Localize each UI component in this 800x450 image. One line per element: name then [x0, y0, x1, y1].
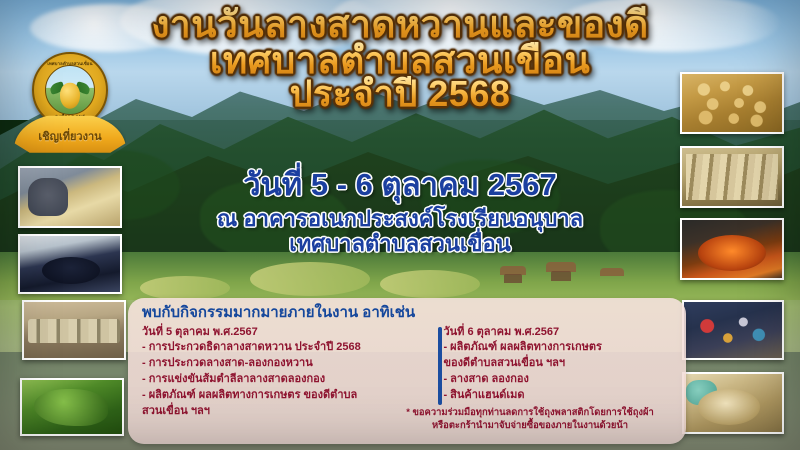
rice-field [140, 276, 230, 300]
event-poster: งานวันลางสาดหวานและของดี เทศบาลตำบลสวนเข… [0, 0, 800, 450]
day1-item: - ผลิตภัณฑ์ ผลผลิตทางการเกษตร ของดีตำบล [142, 388, 417, 404]
village-hut [551, 271, 571, 281]
day2-item: - ผลิตภัณฑ์ ผลผลิตทางการเกษตร [443, 340, 672, 356]
invitation-ribbon-label: เชิญเที่ยวงาน [38, 127, 101, 145]
market-stall-photo [682, 300, 784, 360]
cloud [30, 4, 190, 52]
day1-item: - การประกวดลางสาด-ลองกองหวาน [142, 356, 417, 372]
day1-item: สวนเขื่อน ฯลฯ [142, 404, 417, 420]
activities-panel: พบกับกิจกรรมมากมายภายในงาน อาทิเช่น วันท… [128, 298, 686, 444]
footnote-line-1: * ขอความร่วมมือทุกท่านลดการใช้ถุงพลาสติก… [380, 406, 680, 419]
column-divider [438, 327, 442, 405]
day2-item: - ลางสาด ลองกอง [443, 372, 672, 388]
activities-panel-title: พบกับกิจกรรมมากมายภายในงาน อาทิเช่น [142, 305, 672, 322]
bamboo-cups-photo [680, 146, 784, 208]
seal-inner-emblem [45, 65, 95, 115]
rice-field [380, 270, 480, 298]
day1-item: - การแข่งขันส้มตำลีลาลางสาดลองกอง [142, 372, 417, 388]
day1-heading: วันที่ 5 ตุลาคม พ.ศ.2567 [142, 325, 417, 341]
seal-top-text: เทศบาลตำบลสวนเขื่อน [34, 60, 106, 67]
day2-item: ของดีตำบลสวนเขื่อน ฯลฯ [443, 356, 672, 372]
woven-basket-photo [682, 372, 784, 434]
village-roof [600, 268, 624, 276]
brewed-tea-bowl-photo [680, 218, 784, 280]
weaving-broom-photo [18, 166, 122, 228]
footnote-line-2: หรือตะกร้านำมาจับจ่ายซื้อของภายในงานด้วย… [380, 419, 680, 432]
indigo-dyeing-photo [18, 234, 122, 294]
green-vegetables-photo [20, 378, 124, 436]
day1-item: - การประกวดธิดาลางสาดหวาน ประจำปี 2568 [142, 340, 417, 356]
day2-heading: วันที่ 6 ตุลาคม พ.ศ.2567 [443, 325, 672, 341]
municipal-seal-block: เทศบาลตำบลสวนเขื่อน อ.เมือง จ.แพร่ เชิญเ… [14, 52, 126, 162]
day2-item: - สินค้าแฮนด์เมด [443, 388, 672, 404]
langsat-fruit-photo [680, 72, 784, 134]
packaged-goods-photo [22, 300, 126, 360]
langsat-fruit-icon [60, 83, 80, 109]
rice-field [250, 262, 370, 296]
plastic-bag-footnote: * ขอความร่วมมือทุกท่านลดการใช้ถุงพลาสติก… [380, 406, 680, 432]
village-hut [504, 274, 522, 283]
invitation-ribbon: เชิญเที่ยวงาน [14, 114, 126, 158]
